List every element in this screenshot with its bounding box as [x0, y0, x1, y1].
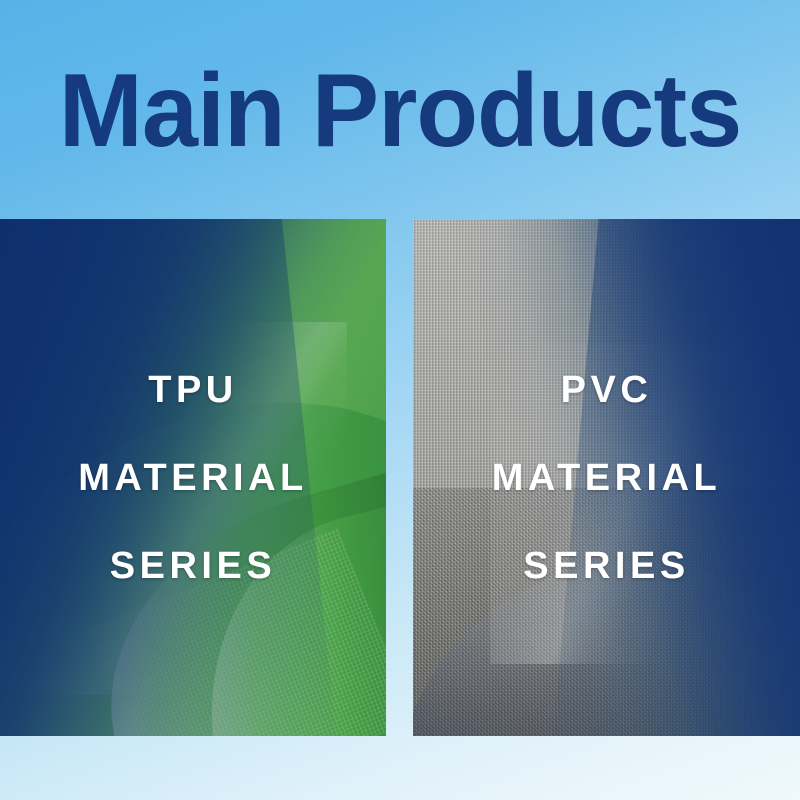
page-title: Main Products: [17, 56, 783, 166]
main-products-banner: Main Products TPU MATERIAL SERIES: [0, 0, 800, 800]
tpu-product-image: [0, 219, 386, 736]
pvc-product-image: [413, 219, 800, 736]
title-bar: Main Products: [0, 0, 800, 215]
product-cards: TPU MATERIAL SERIES PVC MATERIAL SERIES: [0, 219, 800, 736]
product-card-pvc[interactable]: PVC MATERIAL SERIES: [413, 219, 800, 736]
tpu-navy-overlay-secondary: [0, 219, 340, 736]
product-card-tpu[interactable]: TPU MATERIAL SERIES: [0, 219, 386, 736]
